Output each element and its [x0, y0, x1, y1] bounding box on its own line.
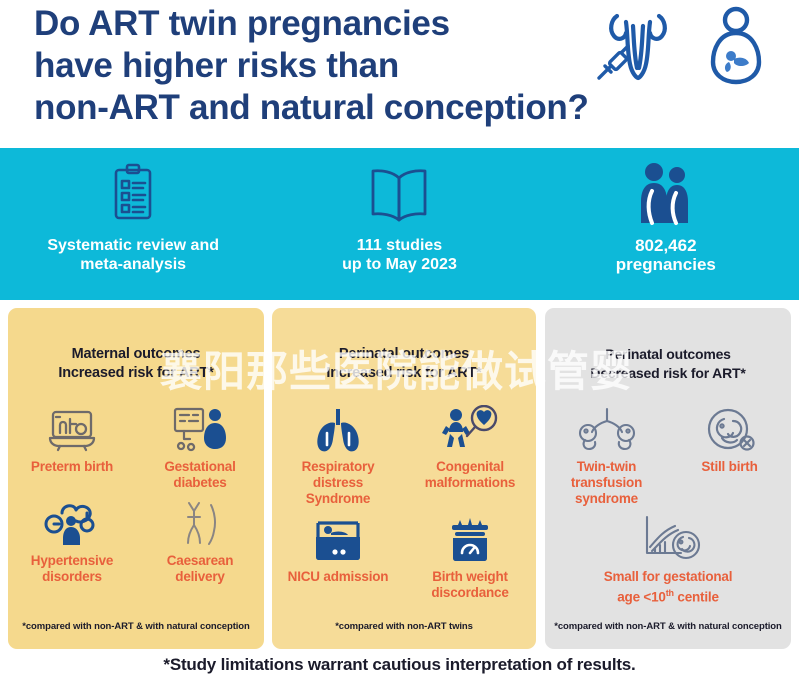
outcome-label: NICU admission: [276, 569, 400, 585]
outcome-item-nicu-admission: NICU admission: [272, 507, 404, 601]
stats-band: Systematic review and meta-analysis 111 …: [0, 148, 799, 300]
outcome-item-birth-weight-discordance: Birth weight discordance: [404, 507, 536, 601]
infographic-page: Do ART twin pregnancies have higher risk…: [0, 0, 799, 684]
pregnant-couple-icon: [635, 161, 697, 227]
panel-perinatal-increased: Perinatal outcomes Increased risk for AR…: [272, 308, 536, 649]
outcome-panels: Maternal outcomes Increased risk for ART…: [0, 308, 799, 649]
study-limitations-note: *Study limitations warrant cautious inte…: [0, 655, 799, 675]
outcome-label: Hypertensive disorders: [12, 553, 132, 585]
stat-item-pregnancies: 802,462 pregnancies: [533, 148, 799, 300]
outcome-item-small-for-gestational-age: Small for gestationalage <10th centile: [545, 507, 791, 606]
lungs-icon: [276, 401, 400, 453]
header-icon-group: [595, 6, 780, 92]
panel-footnote: *compared with non-ART twins: [272, 621, 536, 632]
pregnant-woman-icon: [705, 6, 767, 91]
panel-footnote: *compared with non-ART & with natural co…: [8, 621, 264, 632]
outcome-item-respiratory-distress: Respiratory distress Syndrome: [272, 397, 404, 507]
outcome-item-congenital-malformations: Congenital malformations: [404, 397, 536, 507]
outcome-item-twin-twin-transfusion: Twin-twin transfusion syndrome: [545, 397, 668, 507]
open-book-icon: [366, 161, 432, 227]
title-line-1: Do ART twin pregnancies: [34, 3, 604, 45]
title-line-3: non-ART and natural conception?: [34, 87, 604, 129]
outcome-item-preterm-birth: Preterm birth: [8, 397, 136, 491]
title-line-2: have higher risks than: [34, 45, 604, 87]
panel-heading: Maternal outcomes Increased risk for ART…: [8, 308, 264, 383]
outcome-label: Gestational diabetes: [140, 459, 260, 491]
uterus-syringe-icon: [595, 6, 681, 91]
blood-pressure-pregnant-icon: [12, 495, 132, 547]
outcome-label: Still birth: [672, 459, 787, 475]
stat-label: 111 studies up to May 2023: [342, 236, 457, 274]
panel-footnote: *compared with non-ART & with natural co…: [545, 621, 791, 632]
outcome-label: Birth weight discordance: [408, 569, 532, 601]
outcome-item-hypertensive-disorders: Hypertensive disorders: [8, 491, 136, 585]
outcome-label: Caesarean delivery: [140, 553, 260, 585]
weighing-scale-icon: [408, 511, 532, 563]
outcome-label: Small for gestationalage <10th centile: [549, 569, 787, 606]
outcome-item-gestational-diabetes: Gestational diabetes: [136, 397, 264, 491]
panel-heading: Perinatal outcomes Decreased risk for AR…: [545, 308, 791, 383]
fetus-cross-icon: [672, 401, 787, 453]
outcome-label: Respiratory distress Syndrome: [276, 459, 400, 507]
stat-item-systematic-review: Systematic review and meta-analysis: [0, 148, 266, 300]
outcome-label: Preterm birth: [12, 459, 132, 475]
panel-perinatal-decreased: Perinatal outcomes Decreased risk for AR…: [545, 308, 791, 649]
outcome-label: Twin-twin transfusion syndrome: [549, 459, 664, 507]
incubator-icon: [276, 511, 400, 563]
baby-magnifier-icon: [408, 401, 532, 453]
header-section: Do ART twin pregnancies have higher risk…: [0, 0, 799, 145]
outcome-item-caesarean-delivery: Caesarean delivery: [136, 491, 264, 585]
caesarean-scar-icon: [140, 495, 260, 547]
page-title: Do ART twin pregnancies have higher risk…: [34, 3, 604, 129]
glucose-monitor-pregnant-icon: [140, 401, 260, 453]
hospital-bed-icon: [12, 401, 132, 453]
panel-heading: Perinatal outcomes Increased risk for AR…: [272, 308, 536, 383]
twin-fetuses-placenta-icon: [549, 401, 664, 453]
stat-item-studies: 111 studies up to May 2023: [266, 148, 532, 300]
growth-chart-fetus-icon: [549, 511, 787, 563]
stat-label: Systematic review and meta-analysis: [47, 236, 219, 274]
stat-label: 802,462 pregnancies: [616, 236, 716, 274]
outcome-item-still-birth: Still birth: [668, 397, 791, 507]
clipboard-checklist-icon: [105, 161, 161, 227]
panel-maternal-increased: Maternal outcomes Increased risk for ART…: [8, 308, 264, 649]
outcome-label: Congenital malformations: [408, 459, 532, 491]
